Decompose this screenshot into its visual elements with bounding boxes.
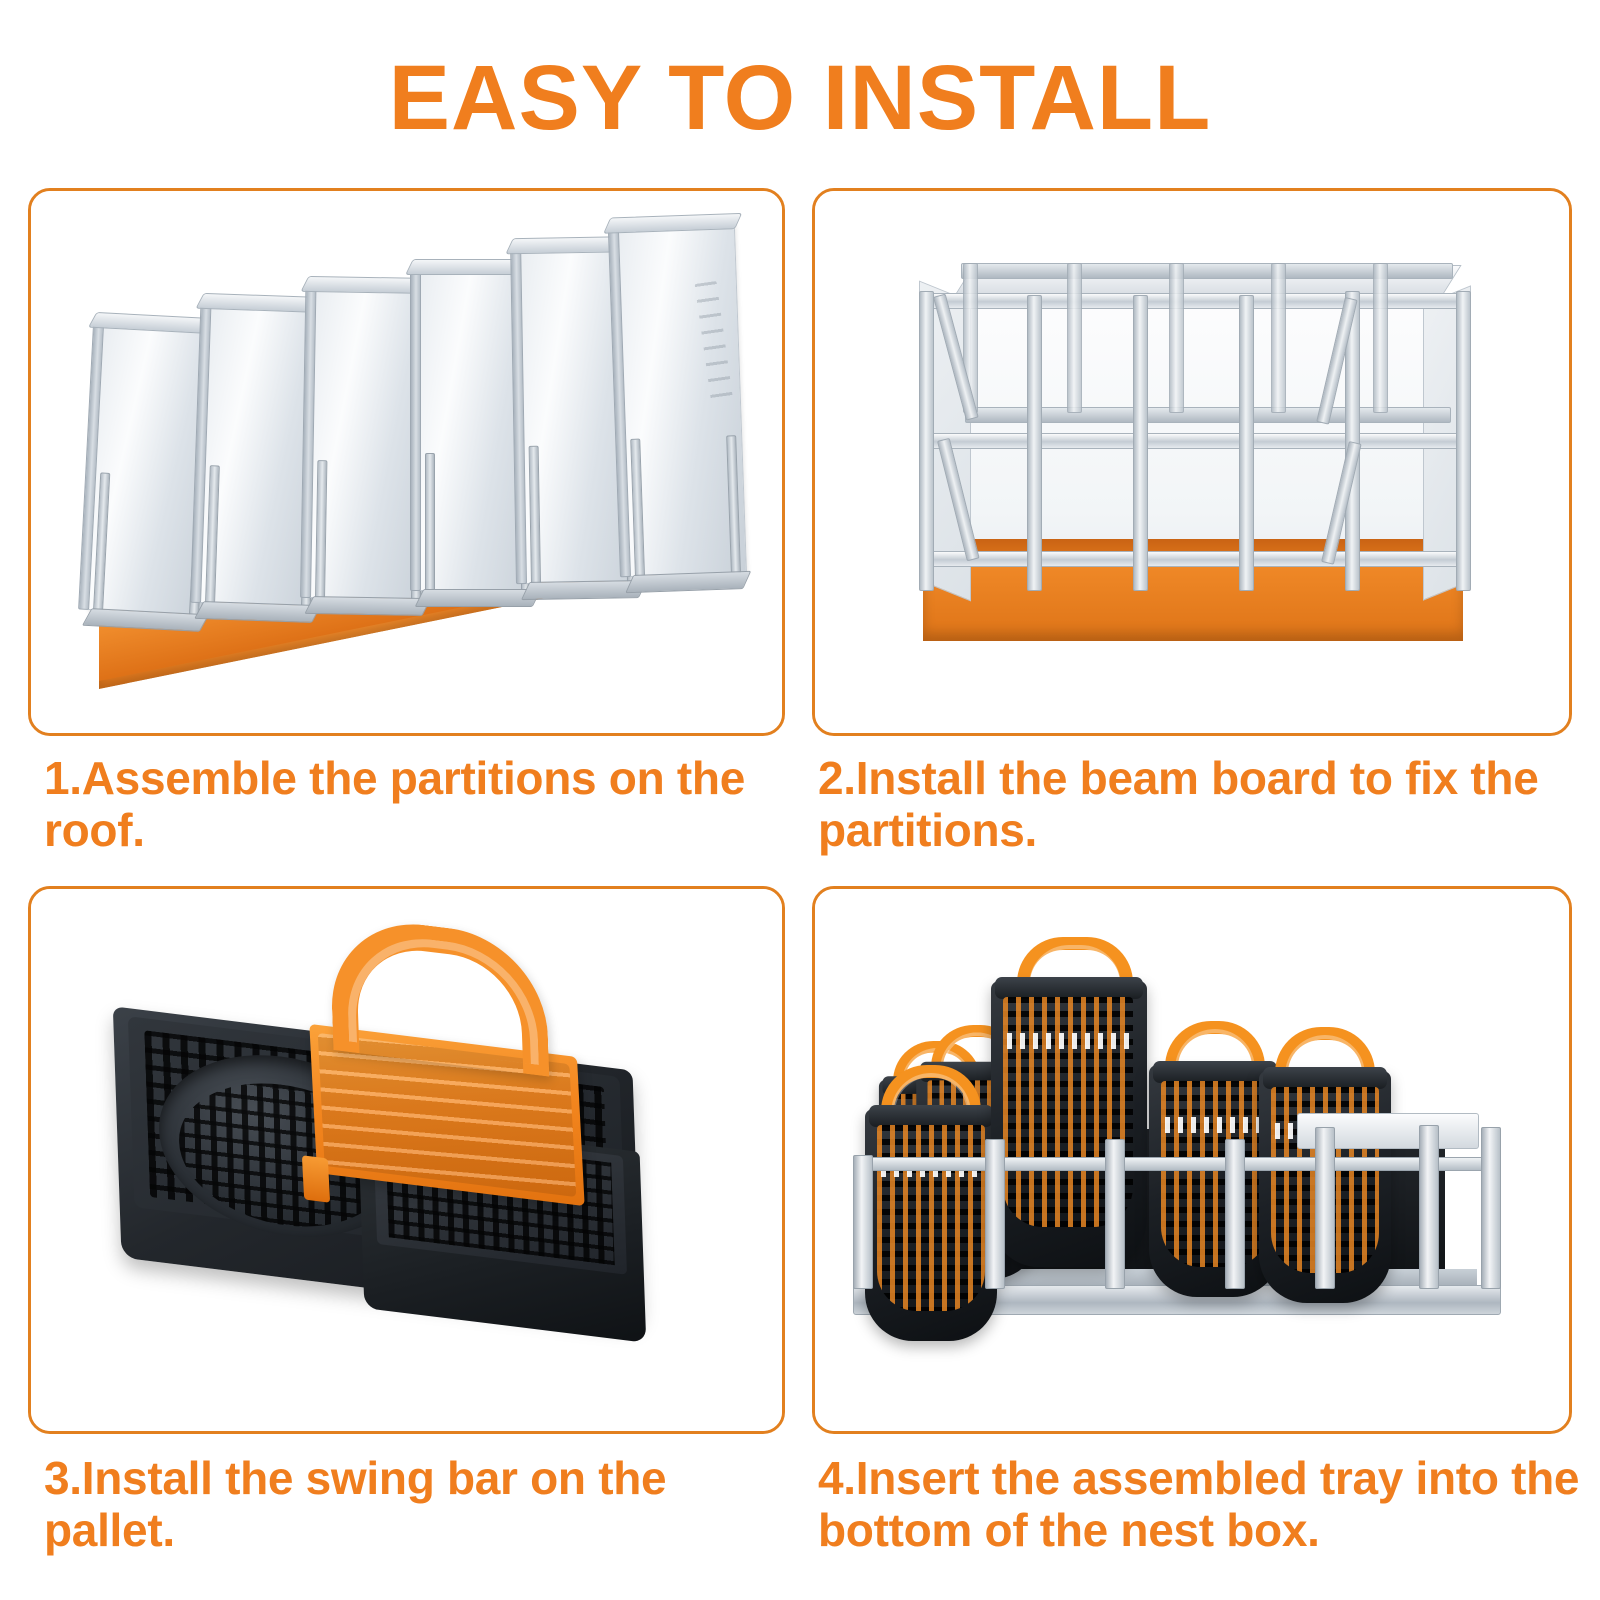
partition-foot <box>304 596 431 616</box>
nest-box-post <box>985 1139 1005 1289</box>
partition-post-rear <box>1271 263 1286 413</box>
partition-post <box>1027 295 1042 591</box>
step-3-caption: 3.Install the swing bar on the pallet. <box>44 1452 784 1556</box>
tray-perforations <box>1161 1081 1269 1267</box>
step-2-photo <box>815 191 1569 733</box>
tray-top-rim <box>995 977 1143 999</box>
nest-box-post <box>1105 1139 1125 1289</box>
step-3-photo <box>31 889 782 1431</box>
nest-box-post <box>1419 1125 1439 1289</box>
partition-post <box>1456 291 1471 591</box>
step-3-image-frame <box>28 886 785 1434</box>
nest-box-front-rail <box>853 1157 1501 1171</box>
tray-top-rim <box>869 1105 993 1127</box>
nest-box-post <box>1225 1139 1245 1289</box>
step-1-image-frame <box>28 188 785 736</box>
step-4-image-frame <box>812 886 1572 1434</box>
partition-post-rear <box>1169 263 1184 413</box>
tray-perforations-highlight <box>1165 1117 1265 1133</box>
partition-post-rear <box>1373 263 1388 413</box>
partition-post <box>1239 295 1254 591</box>
beam-board-top-front <box>919 293 1471 309</box>
partition-post-rear <box>1067 263 1082 413</box>
nest-box-post <box>853 1155 873 1289</box>
tray-perforations <box>877 1125 985 1311</box>
partition-panel <box>617 223 747 577</box>
partition-foot <box>625 571 751 593</box>
step-2-caption: 2.Install the beam board to fix the part… <box>818 752 1578 856</box>
partition-post <box>1133 295 1148 591</box>
page-title: EASY TO INSTALL <box>0 52 1600 144</box>
step-1-photo <box>31 191 782 733</box>
easy-to-install-infographic: EASY TO INSTALL <box>0 0 1600 1600</box>
tray-top-rim <box>1263 1067 1387 1089</box>
step-4-photo <box>815 889 1569 1431</box>
beam-board-lower-front <box>919 551 1471 567</box>
partition-edge <box>410 269 421 591</box>
step-1-caption: 1.Assemble the partitions on the roof. <box>44 752 784 856</box>
nest-box-post <box>1481 1127 1501 1289</box>
partition-post <box>919 291 934 591</box>
beam-board-middle-front <box>919 433 1471 449</box>
step-2-image-frame <box>812 188 1572 736</box>
tray-perforations-highlight <box>1007 1033 1129 1049</box>
partition-brace-left <box>425 453 435 593</box>
swing-bar-latch-tab <box>302 1155 330 1203</box>
step-4-caption: 4.Insert the assembled tray into the bot… <box>818 1452 1586 1556</box>
orange-base-tray <box>923 559 1463 641</box>
nest-box-post <box>1315 1127 1335 1289</box>
